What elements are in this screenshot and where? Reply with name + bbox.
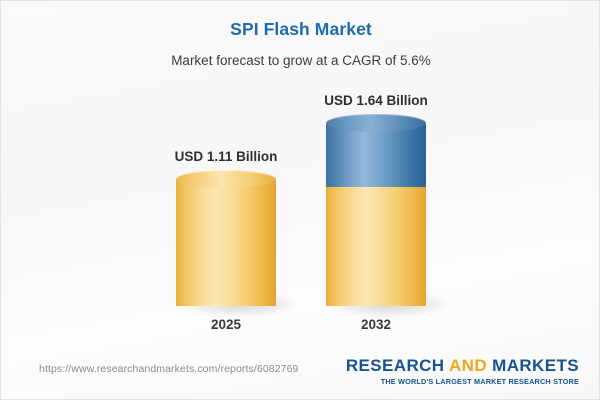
cylinder-top-ellipse-2032: [326, 114, 426, 132]
value-label-2025: USD 1.11 Billion: [116, 149, 336, 164]
bar-segment-2025-base: [176, 179, 276, 306]
footer: https://www.researchandmarkets.com/repor…: [1, 349, 600, 399]
chart-plot-area: USD 1.11 Billion 2025 USD 1.64 Billion: [1, 1, 600, 346]
cylinder-top-ellipse-2025: [176, 170, 276, 188]
cylinder-2025: [176, 179, 276, 306]
cylinder-body-2025: [176, 179, 276, 306]
market-forecast-infographic: SPI Flash Market Market forecast to grow…: [0, 0, 600, 400]
report-url[interactable]: https://www.researchandmarkets.com/repor…: [39, 363, 298, 375]
bar-segment-2032-growth: [326, 123, 426, 187]
cylinder-body-lower-2032: [326, 187, 426, 306]
logo-word-research: RESEARCH: [346, 356, 445, 375]
cylinder-body-upper-2032: [326, 123, 426, 187]
category-label-2032: 2032: [266, 317, 486, 332]
logo-word-and: AND: [449, 356, 487, 375]
bar-segment-2032-base: [326, 187, 426, 306]
logo-wordmark: RESEARCH AND MARKETS: [346, 357, 579, 375]
cylinder-2032: [326, 123, 426, 306]
logo-tagline: THE WORLD'S LARGEST MARKET RESEARCH STOR…: [346, 377, 579, 386]
value-label-2032: USD 1.64 Billion: [266, 93, 486, 108]
research-and-markets-logo[interactable]: RESEARCH AND MARKETS THE WORLD'S LARGEST…: [346, 357, 579, 386]
logo-word-markets: MARKETS: [492, 356, 579, 375]
